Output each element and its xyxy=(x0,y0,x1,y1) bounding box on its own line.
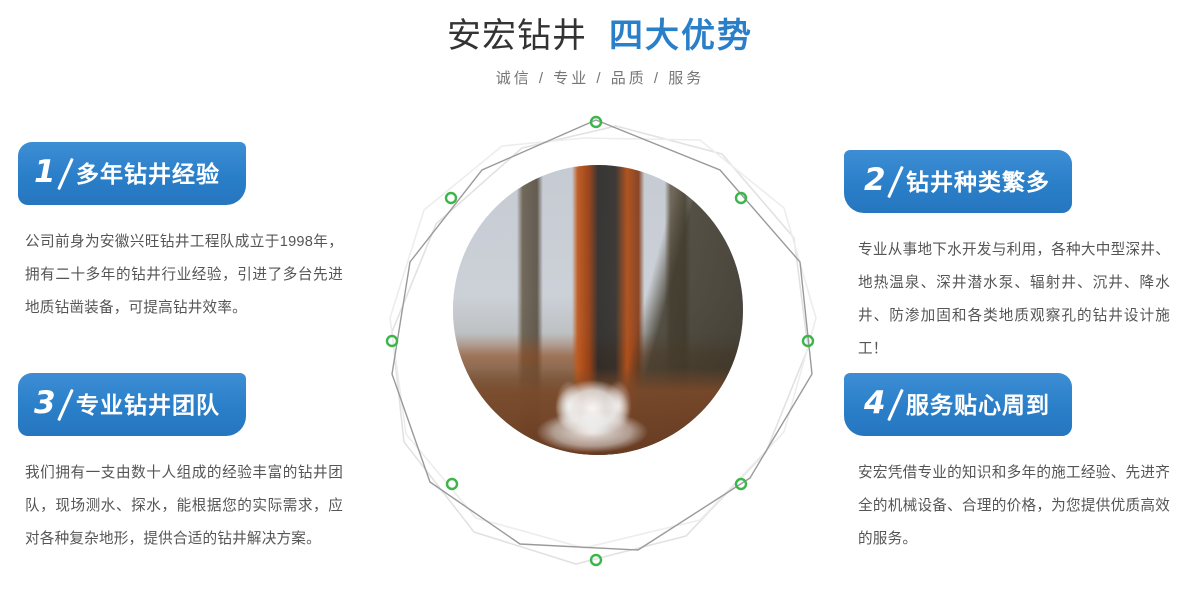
feature-badge-4[interactable]: 4 服务贴心周到 xyxy=(844,373,1072,436)
center-artwork xyxy=(370,112,830,600)
feature-body-2: 专业从事地下水开发与利用，各种大中型深井、地热温泉、深井潜水泵、辐射井、沉井、降… xyxy=(858,213,1170,366)
feature-card-4[interactable]: 4 服务贴心周到 安宏凭借专业的知识和多年的施工经验、先进齐全的机械设备、合理的… xyxy=(844,373,1184,556)
feature-body-3: 我们拥有一支由数十人组成的经验丰富的钻井团队，现场测水、探水，能根据您的实际需求… xyxy=(25,436,343,556)
advantages-section: 安宏钻井四大优势 诚信 / 专业 / 品质 / 服务 xyxy=(0,0,1200,600)
page-title: 安宏钻井四大优势 xyxy=(0,0,1200,58)
badge-slash-icon xyxy=(57,388,74,420)
badge-number-text: 2 xyxy=(864,160,886,200)
badge-number-text: 1 xyxy=(34,152,56,192)
feature-body-4: 安宏凭借专业的知识和多年的施工经验、先进齐全的机械设备、合理的价格，为您提供优质… xyxy=(858,436,1170,556)
feature-card-3[interactable]: 3 专业钻井团队 我们拥有一支由数十人组成的经验丰富的钻井团队，现场测水、探水，… xyxy=(18,373,358,556)
number-1-icon: 1 xyxy=(34,154,68,194)
badge-number-text: 4 xyxy=(864,383,886,423)
feature-title-3: 专业钻井团队 xyxy=(76,392,220,418)
drilling-rig-photo-image xyxy=(453,165,743,455)
number-4-icon: 4 xyxy=(864,385,898,425)
feature-badge-3[interactable]: 3 专业钻井团队 xyxy=(18,373,246,436)
number-3-icon: 3 xyxy=(34,385,68,425)
badge-number-text: 3 xyxy=(34,383,56,423)
feature-title-2: 钻井种类繁多 xyxy=(906,169,1050,195)
feature-card-1[interactable]: 1 多年钻井经验 公司前身为安徽兴旺钻井工程队成立于1998年，拥有二十多年的钻… xyxy=(18,142,358,325)
title-brand: 安宏钻井 xyxy=(447,17,587,55)
feature-card-2[interactable]: 2 钻井种类繁多 专业从事地下水开发与利用，各种大中型深井、地热温泉、深井潜水泵… xyxy=(844,150,1184,366)
badge-slash-icon xyxy=(57,157,74,189)
badge-slash-icon xyxy=(887,388,904,420)
section-header: 安宏钻井四大优势 诚信 / 专业 / 品质 / 服务 xyxy=(0,0,1200,112)
feature-body-1: 公司前身为安徽兴旺钻井工程队成立于1998年，拥有二十多年的钻井行业经验，引进了… xyxy=(25,205,343,325)
drilling-rig-photo xyxy=(453,165,743,455)
feature-title-4: 服务贴心周到 xyxy=(906,392,1050,418)
feature-badge-2[interactable]: 2 钻井种类繁多 xyxy=(844,150,1072,213)
badge-slash-icon xyxy=(887,165,904,197)
title-highlight: 四大优势 xyxy=(609,17,753,55)
feature-title-1: 多年钻井经验 xyxy=(76,161,220,187)
feature-badge-1[interactable]: 1 多年钻井经验 xyxy=(18,142,246,205)
number-2-icon: 2 xyxy=(864,162,898,202)
header-subtitle: 诚信 / 专业 / 品质 / 服务 xyxy=(0,58,1200,89)
